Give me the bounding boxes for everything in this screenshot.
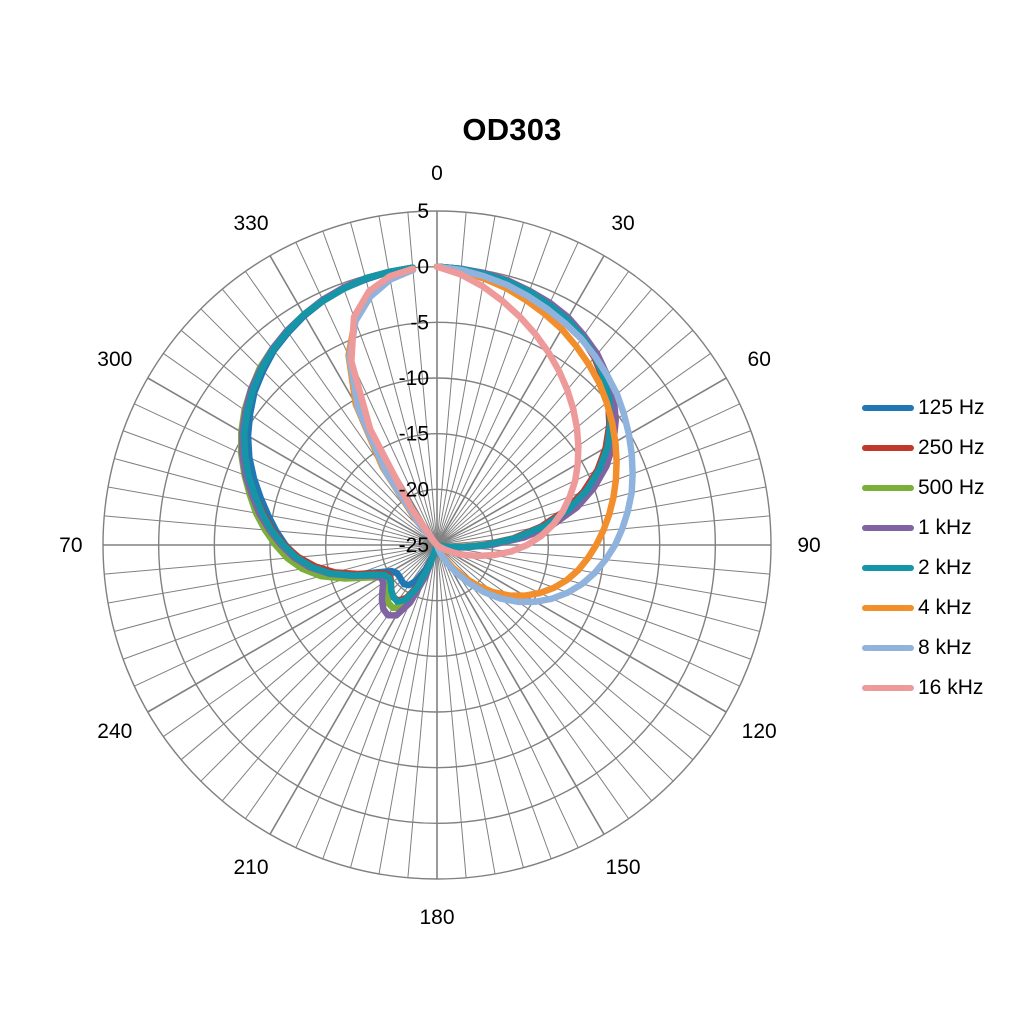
legend-color-swatch — [862, 685, 914, 691]
chart-legend: 125 Hz250 Hz500 Hz1 kHz2 kHz4 kHz8 kHz16… — [862, 388, 1012, 708]
legend-item-125-hz[interactable]: 125 Hz — [862, 388, 1012, 428]
angle-tick-label-210: 210 — [233, 856, 268, 879]
legend-item-label: 500 Hz — [918, 476, 985, 500]
legend-item-500-hz[interactable]: 500 Hz — [862, 468, 1012, 508]
legend-item-1-khz[interactable]: 1 kHz — [862, 508, 1012, 548]
angle-tick-label-30: 30 — [611, 212, 634, 235]
radial-tick-label: 0 — [417, 256, 429, 279]
legend-item-label: 250 Hz — [918, 436, 985, 460]
angle-tick-label-120: 120 — [742, 720, 777, 743]
angle-tick-label-240: 240 — [97, 720, 132, 743]
radial-tick-label: -10 — [399, 367, 429, 390]
angle-tick-label-0: 0 — [431, 162, 443, 185]
legend-color-swatch — [862, 565, 914, 571]
legend-color-swatch — [862, 485, 914, 491]
polar-plot-svg: 50-5-10-15-20-25 03060901201501802102402… — [60, 150, 820, 950]
radial-tick-label: -5 — [410, 311, 429, 334]
legend-color-swatch — [862, 445, 914, 451]
legend-color-swatch — [862, 605, 914, 611]
legend-item-8-khz[interactable]: 8 kHz — [862, 628, 1012, 668]
legend-item-label: 125 Hz — [918, 396, 985, 420]
legend-color-swatch — [862, 645, 914, 651]
angle-tick-label-60: 60 — [748, 348, 771, 371]
legend-item-16-khz[interactable]: 16 kHz — [862, 668, 1012, 708]
angle-tick-label-300: 300 — [97, 348, 132, 371]
radial-tick-label: 5 — [417, 200, 429, 223]
polar-plot-area: 50-5-10-15-20-25 03060901201501802102402… — [60, 150, 820, 950]
angle-tick-label-330: 330 — [233, 212, 268, 235]
series-line-1-khz — [437, 267, 616, 548]
angle-tick-label-180: 180 — [419, 906, 454, 929]
legend-item-4-khz[interactable]: 4 kHz — [862, 588, 1012, 628]
legend-color-swatch — [862, 525, 914, 531]
legend-item-label: 16 kHz — [918, 676, 983, 700]
legend-item-label: 2 kHz — [918, 556, 972, 580]
radial-tick-label: -20 — [399, 478, 429, 501]
legend-item-label: 4 kHz — [918, 596, 972, 620]
angle-tick-label-270: 270 — [60, 534, 83, 557]
polar-chart-page: OD303 50-5-10-15-20-25 03060901201501802… — [0, 0, 1024, 1024]
radial-tick-label: -15 — [399, 423, 429, 446]
angle-tick-label-150: 150 — [605, 856, 640, 879]
legend-item-250-hz[interactable]: 250 Hz — [862, 428, 1012, 468]
legend-color-swatch — [862, 405, 914, 411]
legend-item-label: 1 kHz — [918, 516, 972, 540]
page-title: OD303 — [0, 112, 1024, 148]
angle-tick-label-90: 90 — [797, 534, 820, 557]
legend-item-2-khz[interactable]: 2 kHz — [862, 548, 1012, 588]
legend-item-label: 8 kHz — [918, 636, 972, 660]
radial-tick-label: -25 — [399, 534, 429, 557]
